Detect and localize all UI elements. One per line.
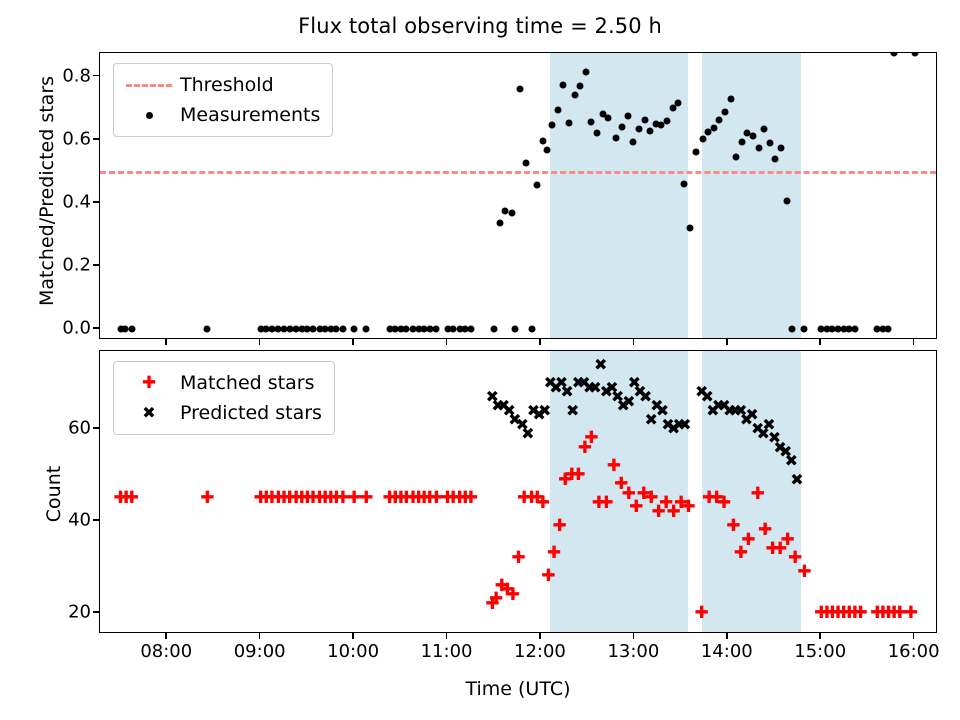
- matched-star-point: ✚: [429, 493, 443, 503]
- x-tick-mark: [165, 339, 167, 345]
- measurement-point: [286, 325, 293, 332]
- measurement-point: [415, 325, 422, 332]
- y-tick-mark: [93, 427, 99, 429]
- measurement-point: [310, 325, 317, 332]
- y-tick-mark: [93, 138, 99, 140]
- matched-star-point: ✚: [329, 493, 343, 503]
- measurement-point: [891, 52, 898, 57]
- measurement-point: [117, 325, 124, 332]
- matched-star-point: ✚: [200, 493, 214, 503]
- y-tick-mark: [93, 327, 99, 329]
- measurement-point: [534, 181, 541, 188]
- matched-star-point: ✚: [417, 493, 431, 503]
- measurement-point: [829, 325, 836, 332]
- predicted-star-point: ✖: [508, 415, 521, 425]
- x-axis-label: Time (UTC): [99, 678, 937, 700]
- x-tick-mark: [259, 339, 261, 345]
- measurement-point: [835, 325, 842, 332]
- matched-star-point: ✚: [399, 493, 413, 503]
- measurement-point: [508, 209, 515, 216]
- matched-star-point: ✚: [300, 493, 314, 503]
- measurement-point: [281, 325, 288, 332]
- legend-item-threshold: Threshold: [122, 70, 320, 100]
- matched-star-point: ✚: [446, 493, 460, 503]
- top-panel-plot: Threshold Measurements: [99, 52, 937, 339]
- shaded-interval-band: [550, 53, 687, 338]
- top-legend: Threshold Measurements: [113, 63, 333, 137]
- matched-star-point: ✚: [831, 608, 845, 618]
- measurement-point: [304, 325, 311, 332]
- x-tick-mark: [539, 339, 541, 345]
- y-tick-mark: [93, 264, 99, 266]
- x-tick-mark: [633, 633, 635, 639]
- legend-label-predicted-stars: Predicted stars: [176, 402, 322, 424]
- matched-star-point: ✚: [530, 493, 544, 503]
- matched-star-point: ✚: [820, 608, 834, 618]
- matched-star-point: ✚: [265, 493, 279, 503]
- matched-star-point: ✚: [464, 493, 478, 503]
- matched-star-point: ✚: [881, 608, 895, 618]
- x-tick-mark: [913, 339, 915, 345]
- measurement-point: [426, 325, 433, 332]
- x-tick-mark: [446, 339, 448, 345]
- matched-star-point: ✚: [283, 493, 297, 503]
- matched-star-point: ✚: [511, 553, 525, 563]
- shaded-interval-band: [702, 351, 801, 632]
- predicted-star-point: ✖: [532, 410, 545, 420]
- matched-star-point: ✚: [853, 608, 867, 618]
- measurement-point: [386, 325, 393, 332]
- y-tick-label: 60: [31, 418, 91, 439]
- measurement-point: [421, 325, 428, 332]
- x-tick-mark: [165, 633, 167, 639]
- y-tick-label: 40: [31, 510, 91, 531]
- measurement-point: [879, 325, 886, 332]
- matched-star-point: ✚: [359, 493, 373, 503]
- y-tick-label: 0.4: [31, 191, 91, 212]
- measurement-point: [275, 325, 282, 332]
- measurement-point: [496, 220, 503, 227]
- dot-marker-icon: [122, 112, 176, 119]
- measurement-point: [444, 325, 451, 332]
- predicted-star-point: ✖: [521, 429, 534, 439]
- measurement-point: [450, 325, 457, 332]
- x-tick-mark: [446, 633, 448, 639]
- measurement-point: [263, 325, 270, 332]
- page-title: Flux total observing time = 2.50 h: [0, 14, 960, 38]
- matched-star-point: ✚: [458, 493, 472, 503]
- measurement-point: [523, 160, 530, 167]
- measurement-point: [539, 137, 546, 144]
- matched-star-point: ✚: [440, 493, 454, 503]
- measurement-point: [316, 325, 323, 332]
- measurement-point: [403, 325, 410, 332]
- matched-star-point: ✚: [500, 585, 514, 595]
- x-tick-mark: [352, 339, 354, 345]
- legend-label-measurements: Measurements: [176, 104, 320, 126]
- legend-label-threshold: Threshold: [176, 74, 274, 96]
- matched-star-point: ✚: [306, 493, 320, 503]
- measurement-point: [351, 325, 358, 332]
- x-tick-mark: [539, 633, 541, 639]
- legend-item-measurements: Measurements: [122, 100, 320, 130]
- cross-marker-icon: ✖: [122, 405, 176, 421]
- x-tick-label: 14:00: [682, 641, 772, 662]
- shaded-interval-band: [550, 351, 687, 632]
- measurement-point: [801, 325, 808, 332]
- x-tick-label: 08:00: [121, 641, 211, 662]
- bottom-panel-plot: ✚✚✚✚✚✚✚✚✚✚✚✚✚✚✚✚✚✚✚✚✚✚✚✚✚✚✚✚✚✚✚✚✚✚✚✚✚✚✚✚…: [99, 350, 937, 633]
- predicted-star-point: ✖: [502, 406, 515, 416]
- y-tick-label: 0.6: [31, 128, 91, 149]
- matched-star-point: ✚: [259, 493, 273, 503]
- matched-star-point: ✚: [318, 493, 332, 503]
- matched-star-point: ✚: [388, 493, 402, 503]
- shaded-interval-band: [702, 53, 801, 338]
- chart-figure: Flux total observing time = 2.50 h Thres…: [0, 0, 960, 720]
- measurement-point: [528, 325, 535, 332]
- measurement-point: [128, 325, 135, 332]
- matched-star-point: ✚: [453, 493, 467, 503]
- matched-star-point: ✚: [536, 498, 550, 508]
- matched-star-point: ✚: [119, 493, 133, 503]
- matched-star-point: ✚: [423, 493, 437, 503]
- matched-star-point: ✚: [876, 608, 890, 618]
- y-tick-mark: [93, 201, 99, 203]
- matched-star-point: ✚: [837, 608, 851, 618]
- measurement-point: [298, 325, 305, 332]
- measurement-point: [363, 325, 370, 332]
- measurement-point: [818, 325, 825, 332]
- y-tick-label: 0.0: [31, 317, 91, 338]
- y-tick-label: 0.8: [31, 65, 91, 86]
- measurement-point: [333, 325, 340, 332]
- matched-star-point: ✚: [825, 608, 839, 618]
- predicted-star-point: ✖: [527, 406, 540, 416]
- measurement-point: [823, 325, 830, 332]
- measurement-point: [339, 325, 346, 332]
- measurement-point: [204, 325, 211, 332]
- y-tick-mark: [93, 75, 99, 77]
- matched-star-point: ✚: [893, 608, 907, 618]
- y-tick-label: 0.2: [31, 254, 91, 275]
- dashed-line-icon: [122, 84, 176, 87]
- x-tick-label: 13:00: [588, 641, 678, 662]
- y-tick-label: 20: [31, 602, 91, 623]
- matched-star-point: ✚: [113, 493, 127, 503]
- threshold-line: [100, 171, 936, 174]
- x-tick-label: 10:00: [308, 641, 398, 662]
- measurement-point: [687, 225, 694, 232]
- measurement-point: [517, 85, 524, 92]
- measurement-point: [502, 207, 509, 214]
- measurement-point: [257, 325, 264, 332]
- measurement-point: [911, 52, 918, 57]
- measurement-point: [467, 325, 474, 332]
- bottom-legend: ✚ Matched stars ✖ Predicted stars: [113, 361, 335, 435]
- predicted-star-point: ✖: [516, 420, 529, 430]
- matched-star-point: ✚: [814, 608, 828, 618]
- measurement-point: [840, 325, 847, 332]
- matched-star-point: ✚: [524, 493, 538, 503]
- predicted-star-point: ✖: [486, 392, 499, 402]
- measurement-point: [392, 325, 399, 332]
- matched-star-point: ✚: [485, 599, 499, 609]
- measurement-point: [846, 325, 853, 332]
- x-tick-mark: [352, 633, 354, 639]
- matched-star-point: ✚: [125, 493, 139, 503]
- matched-star-point: ✚: [336, 493, 350, 503]
- x-tick-mark: [913, 633, 915, 639]
- matched-star-point: ✚: [904, 608, 918, 618]
- matched-star-point: ✚: [324, 493, 338, 503]
- matched-star-point: ✚: [347, 493, 361, 503]
- matched-star-point: ✚: [277, 493, 291, 503]
- measurement-point: [322, 325, 329, 332]
- matched-star-point: ✚: [271, 493, 285, 503]
- legend-label-matched-stars: Matched stars: [176, 372, 314, 394]
- matched-star-point: ✚: [495, 581, 509, 591]
- matched-star-point: ✚: [394, 493, 408, 503]
- measurement-point: [268, 325, 275, 332]
- measurement-point: [543, 146, 550, 153]
- matched-star-point: ✚: [887, 608, 901, 618]
- x-tick-mark: [259, 633, 261, 639]
- matched-star-point: ✚: [312, 493, 326, 503]
- predicted-star-point: ✖: [491, 401, 504, 411]
- measurement-point: [293, 325, 300, 332]
- y-tick-mark: [93, 611, 99, 613]
- measurement-point: [491, 325, 498, 332]
- measurement-point: [693, 149, 700, 156]
- x-tick-mark: [726, 339, 728, 345]
- measurement-point: [409, 325, 416, 332]
- measurement-point: [511, 325, 518, 332]
- y-tick-mark: [93, 519, 99, 521]
- x-tick-mark: [726, 633, 728, 639]
- matched-star-point: ✚: [517, 493, 531, 503]
- matched-star-point: ✚: [254, 493, 268, 503]
- x-tick-mark: [819, 633, 821, 639]
- x-tick-label: 12:00: [495, 641, 585, 662]
- measurement-point: [885, 325, 892, 332]
- x-tick-label: 11:00: [402, 641, 492, 662]
- matched-star-point: ✚: [382, 493, 396, 503]
- measurement-point: [397, 325, 404, 332]
- plus-marker-icon: ✚: [122, 375, 176, 392]
- predicted-star-point: ✖: [497, 401, 510, 411]
- matched-star-point: ✚: [842, 608, 856, 618]
- matched-star-point: ✚: [406, 493, 420, 503]
- legend-item-matched-stars: ✚ Matched stars: [122, 368, 322, 398]
- measurement-point: [874, 325, 881, 332]
- matched-star-point: ✚: [489, 594, 503, 604]
- matched-star-point: ✚: [289, 493, 303, 503]
- legend-item-predicted-stars: ✖ Predicted stars: [122, 398, 322, 428]
- matched-star-point: ✚: [870, 608, 884, 618]
- x-tick-mark: [819, 339, 821, 345]
- measurement-point: [433, 325, 440, 332]
- matched-star-point: ✚: [848, 608, 862, 618]
- matched-star-point: ✚: [506, 590, 520, 600]
- matched-star-point: ✚: [411, 493, 425, 503]
- measurement-point: [851, 325, 858, 332]
- measurement-point: [327, 325, 334, 332]
- bottom-y-axis-label: Count: [43, 434, 65, 554]
- measurement-point: [462, 325, 469, 332]
- measurement-point: [456, 325, 463, 332]
- x-tick-mark: [633, 339, 635, 345]
- measurement-point: [122, 325, 129, 332]
- matched-star-point: ✚: [295, 493, 309, 503]
- x-tick-label: 16:00: [869, 641, 959, 662]
- x-tick-label: 09:00: [215, 641, 305, 662]
- x-tick-label: 15:00: [775, 641, 865, 662]
